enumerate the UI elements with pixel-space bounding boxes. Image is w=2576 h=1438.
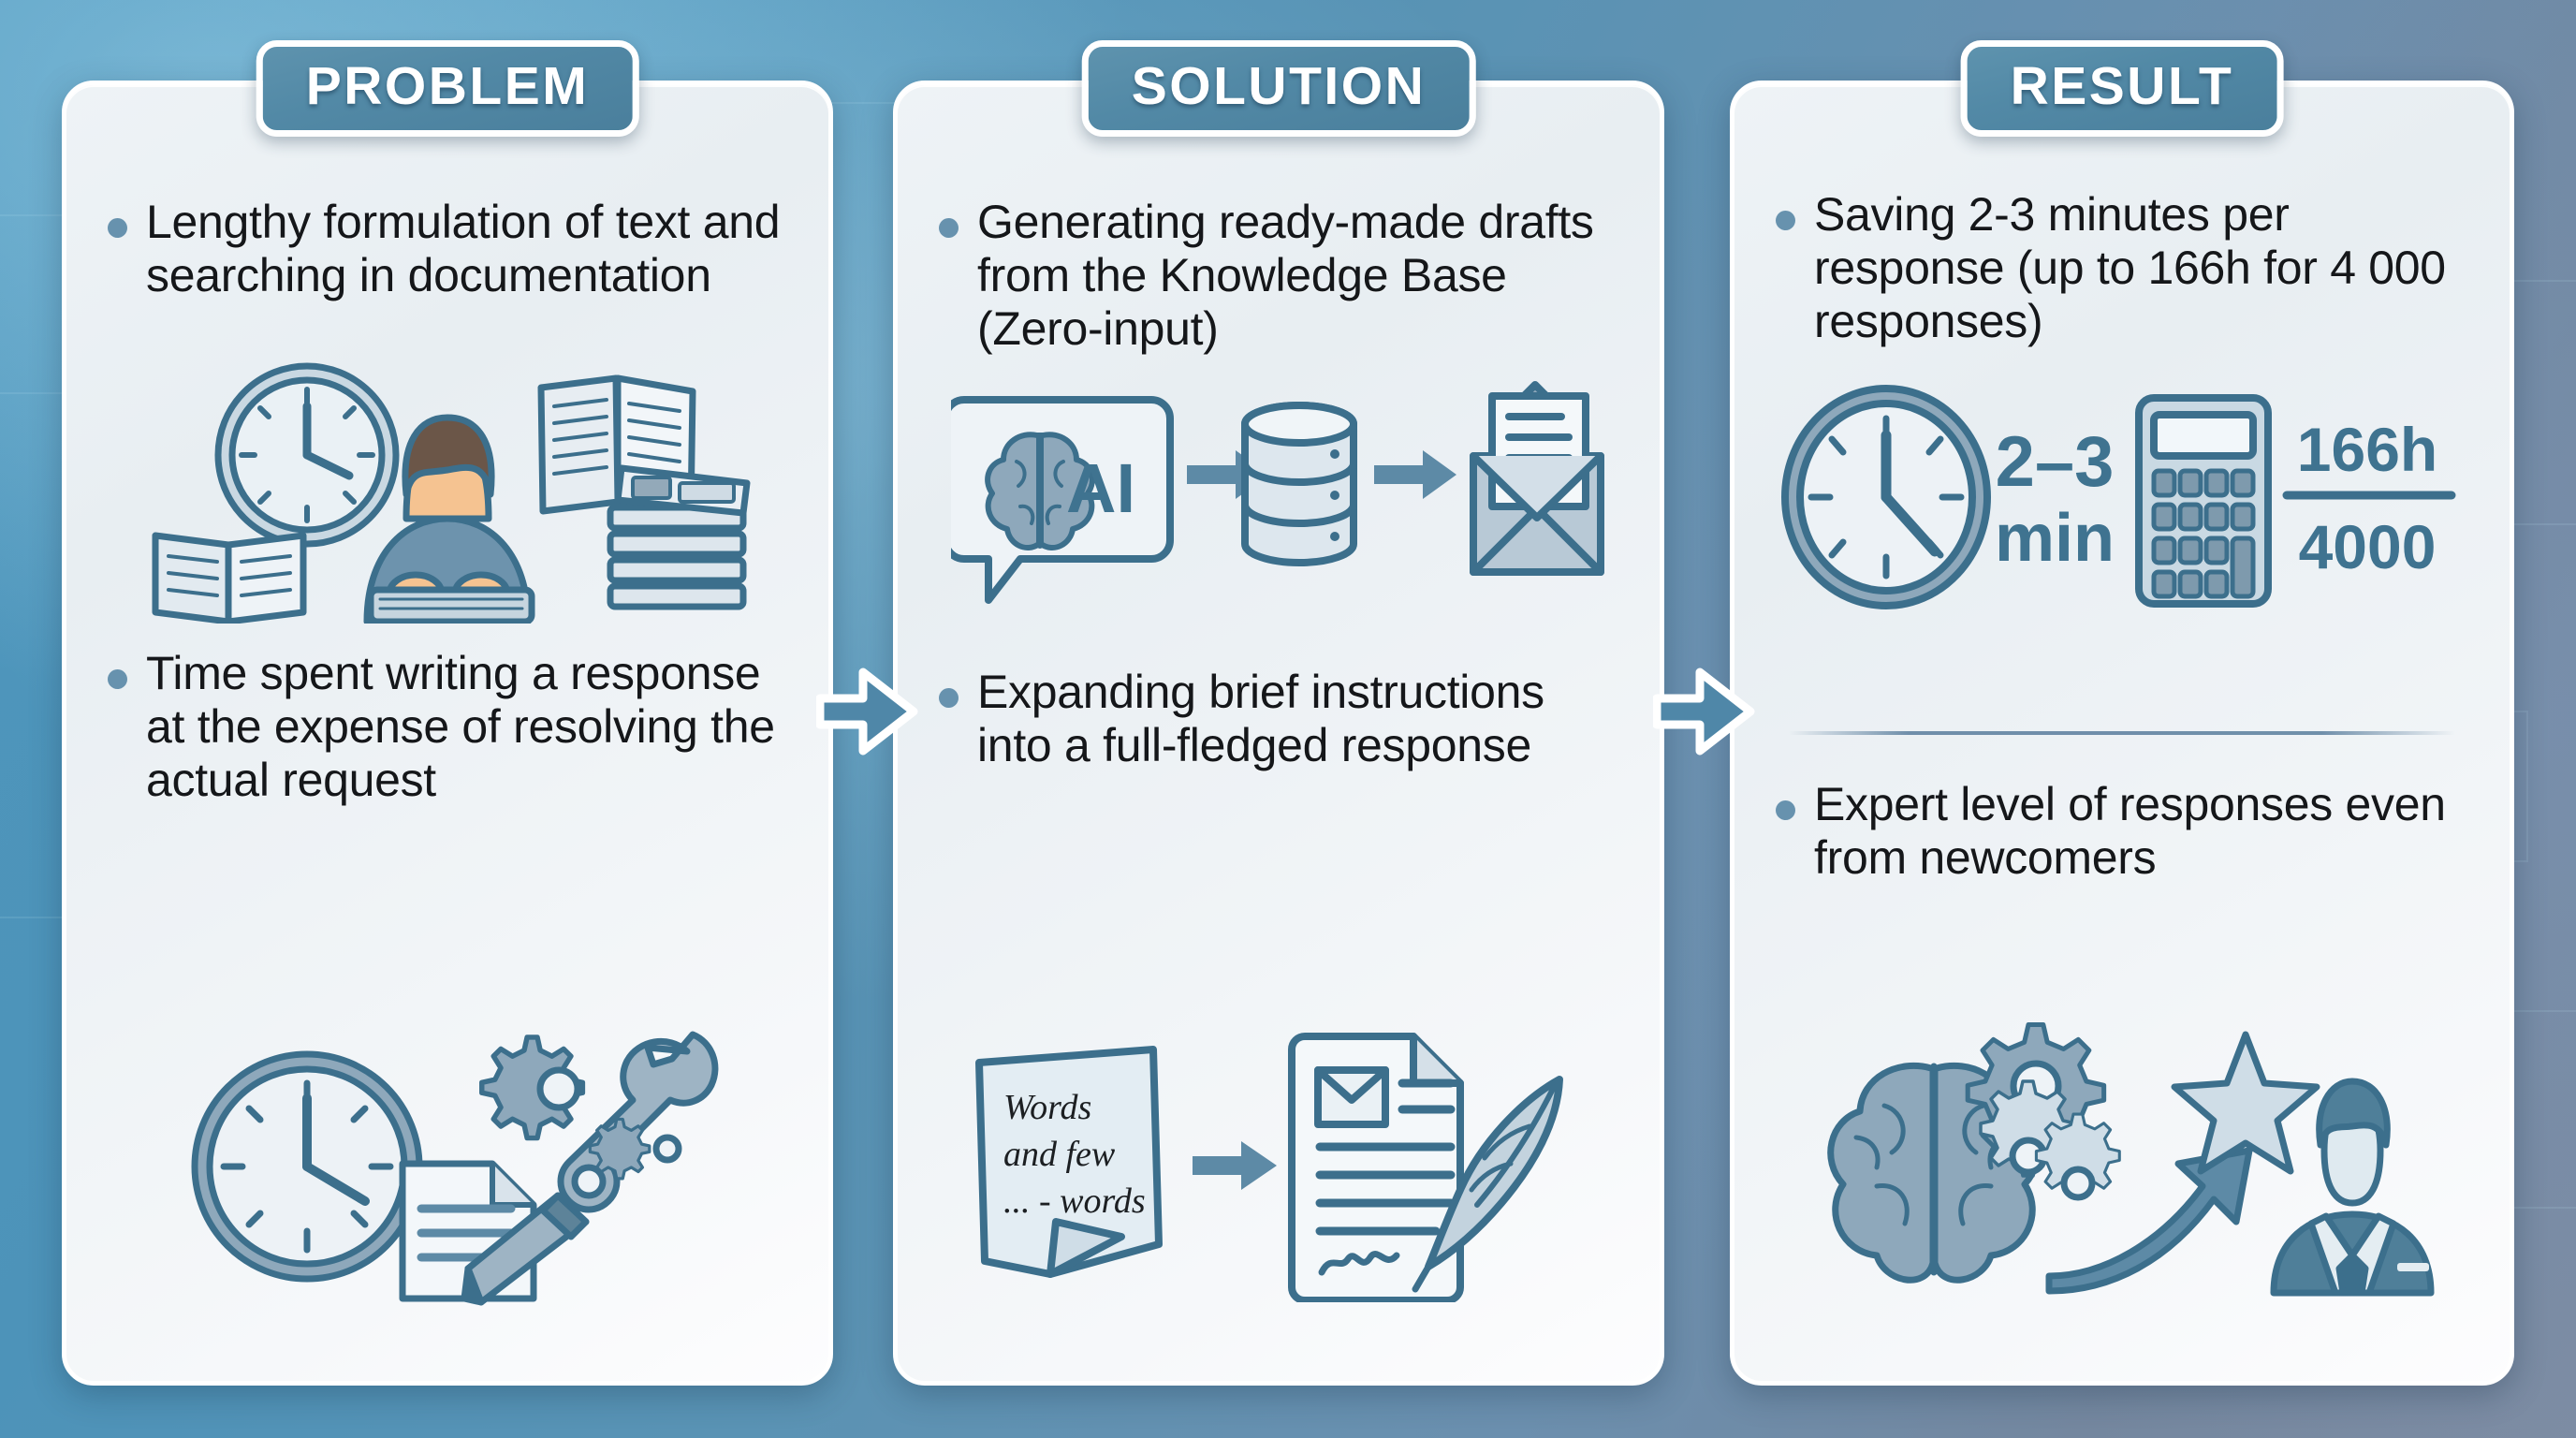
bullet-dot-icon [1776, 800, 1795, 820]
icon-brain-gears-growth-expert [1734, 1021, 2510, 1302]
bullet-text: Generating ready-made drafts from the Kn… [977, 196, 1628, 356]
bullet-text: Expert level of responses even from newc… [1814, 778, 2478, 885]
bullet-dot-icon [108, 218, 127, 238]
panel-solution-bullet-2: Expanding brief instructions into a full… [939, 666, 1628, 772]
icon-savings-metrics: 2–3 min [1734, 385, 2510, 619]
bullet-dot-icon [939, 688, 959, 708]
bullet-dot-icon [939, 218, 959, 238]
icon-person-typing-with-books-and-clock [66, 352, 828, 624]
note-line-3: ... - words [1003, 1181, 1146, 1221]
note-line-2: and few [1003, 1135, 1116, 1174]
ai-label: AI [1066, 449, 1135, 527]
icon-sticky-note-to-letter: Words and few ... - words [898, 1021, 1660, 1302]
metric-hours-numerator: 166h [2297, 415, 2437, 484]
icon-ai-to-database-to-envelope: AI [898, 375, 1660, 609]
icon-clock-document-pen-gears [66, 1021, 828, 1312]
panel-problem-header: PROBLEM [256, 40, 639, 137]
connector-arrow-problem-to-solution [816, 665, 919, 763]
metric-minutes-unit: min [1995, 501, 2115, 576]
arrow-right-icon [1657, 672, 1750, 751]
panel-result-bullet-1: Saving 2-3 minutes per response (up to 1… [1776, 188, 2478, 348]
panel-problem-bullet-1: Lengthy formulation of text and searchin… [108, 196, 797, 302]
panel-solution: SOLUTION Generating ready-made drafts fr… [893, 81, 1664, 1386]
panel-solution-bullet-1: Generating ready-made drafts from the Kn… [939, 196, 1628, 356]
panel-problem-bullet-2: Time spent writing a response at the exp… [108, 647, 797, 807]
panel-problem-title: PROBLEM [306, 60, 590, 113]
bullet-dot-icon [108, 669, 127, 689]
panel-result-header: RESULT [1961, 40, 2284, 137]
panel-problem: PROBLEM Lengthy formulation of text and … [62, 81, 833, 1386]
connector-arrow-solution-to-result [1653, 665, 1756, 763]
bullet-text: Expanding brief instructions into a full… [977, 666, 1628, 772]
panel-result-bullet-2: Expert level of responses even from newc… [1776, 778, 2478, 885]
metric-hours-denominator: 4000 [2299, 512, 2437, 581]
bullet-text: Time spent writing a response at the exp… [146, 647, 797, 807]
result-panel-divider [1789, 731, 2455, 735]
panel-solution-header: SOLUTION [1082, 40, 1476, 137]
note-line-1: Words [1003, 1088, 1091, 1127]
bullet-dot-icon [1776, 211, 1795, 230]
infographic-canvas: PROBLEM Lengthy formulation of text and … [0, 0, 2576, 1438]
bullet-text: Saving 2-3 minutes per response (up to 1… [1814, 188, 2478, 348]
panel-result-title: RESULT [2011, 60, 2234, 113]
panel-solution-title: SOLUTION [1132, 60, 1427, 113]
panel-result: RESULT Saving 2-3 minutes per response (… [1730, 81, 2514, 1386]
arrow-right-icon [820, 672, 914, 751]
metric-minutes-value: 2–3 [1996, 422, 2115, 502]
bullet-text: Lengthy formulation of text and searchin… [146, 196, 797, 302]
